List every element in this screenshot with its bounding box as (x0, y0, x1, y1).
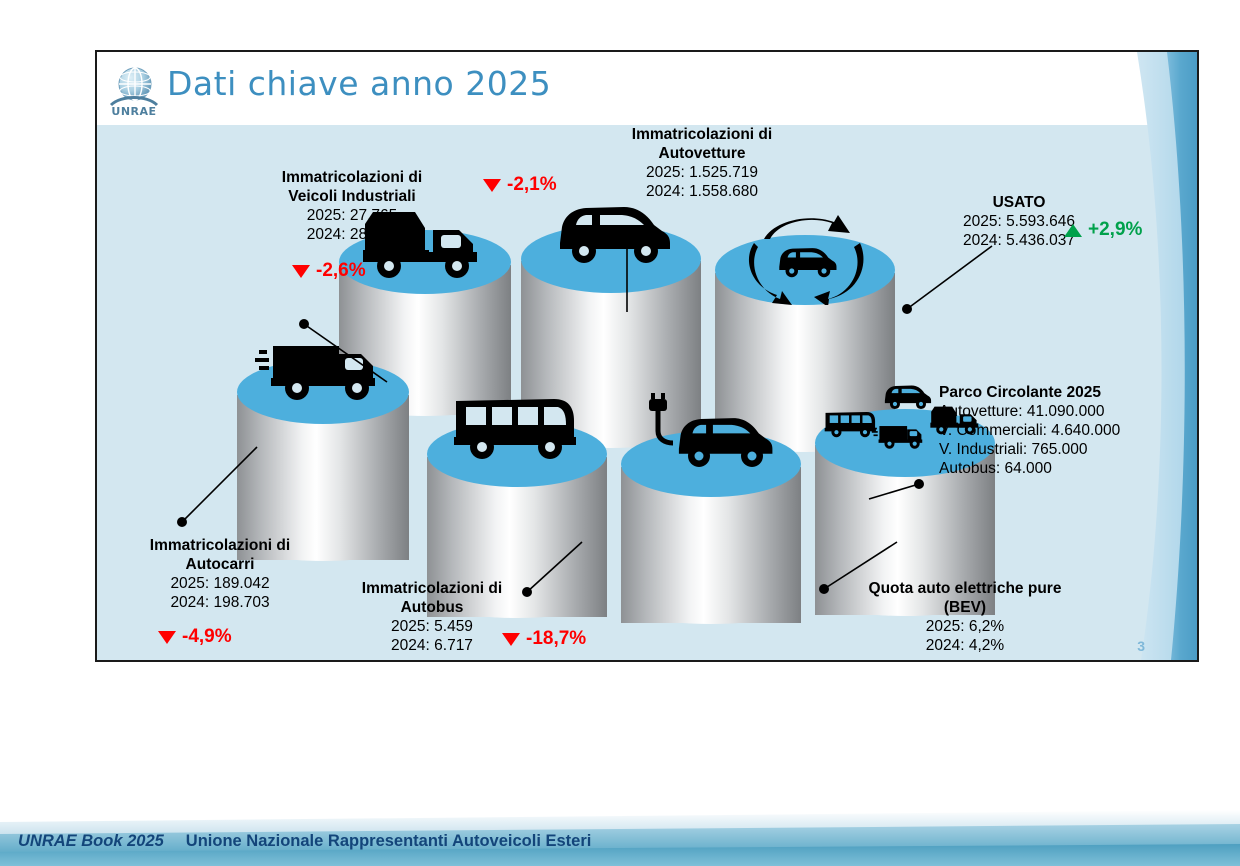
cylinder-top (237, 360, 409, 424)
parco-line-2: V. Commerciali: 4.640.000 (939, 422, 1179, 441)
footer-text: UNRAE Book 2025Unione Nazionale Rapprese… (18, 832, 591, 851)
block-value-2024: 2024: 198.703 (115, 594, 325, 613)
block-title-line2: Veicoli Industriali (247, 188, 457, 207)
unrae-logo-icon: UNRAE (107, 64, 161, 116)
delta-usato: +2,9% (1063, 219, 1142, 241)
block-value-2025: 2025: 1.525.719 (572, 164, 832, 183)
block-title-line1: USATO (909, 194, 1129, 213)
block-value-2024: 2024: 1.558.680 (572, 183, 832, 202)
block-autovetture: Immatricolazioni di Autovetture 2025: 1.… (572, 126, 832, 202)
block-title-line1: Immatricolazioni di (247, 169, 457, 188)
delta-value: -2,1% (507, 174, 557, 195)
page-title: Dati chiave anno 2025 (167, 64, 551, 103)
block-title-line1: Immatricolazioni di (115, 537, 325, 556)
block-parco-circolante: Parco Circolante 2025 Autovetture: 41.09… (939, 384, 1179, 479)
delta-value: -2,6% (316, 260, 366, 281)
block-value-2025: 2025: 189.042 (115, 575, 325, 594)
block-title-line2: Autovetture (572, 145, 832, 164)
block-veicoli-industriali: Immatricolazioni di Veicoli Industriali … (247, 169, 457, 245)
parco-line-1: Autovetture: 41.090.000 (939, 403, 1179, 422)
delta-autovetture: -2,1% (482, 174, 557, 196)
delta-value: -4,9% (182, 626, 232, 647)
delta-veicoli-industriali: -2,6% (291, 260, 366, 282)
parco-line-3: V. Industriali: 765.000 (939, 441, 1179, 460)
cylinder-autocarri (237, 360, 409, 560)
cylinder-top (621, 431, 801, 497)
block-title-line1: Immatricolazioni di (327, 580, 537, 599)
block-title-line1: Immatricolazioni di (572, 126, 832, 145)
delta-autobus: -18,7% (501, 628, 586, 650)
parco-title: Parco Circolante 2025 (939, 384, 1179, 403)
footer-subtitle: Unione Nazionale Rappresentanti Autoveic… (186, 832, 592, 850)
parco-line-4: Autobus: 64.000 (939, 460, 1179, 479)
triangle-down-icon (482, 177, 502, 193)
footer-brand: UNRAE Book 2025 (18, 832, 164, 850)
page-number: 3 (1137, 638, 1145, 654)
cylinder-bev (621, 431, 801, 623)
block-title-line2: (BEV) (825, 599, 1105, 618)
cylinder-top (427, 421, 607, 487)
cylinder-autovetture (521, 225, 701, 447)
block-autocarri: Immatricolazioni di Autocarri 2025: 189.… (115, 537, 325, 613)
block-title-line1: Quota auto elettriche pure (825, 580, 1105, 599)
delta-value: -18,7% (526, 628, 586, 649)
block-value-2024: 2024: 28.496 (247, 226, 457, 245)
svg-text:UNRAE: UNRAE (111, 105, 156, 116)
delta-autocarri: -4,9% (157, 626, 232, 648)
block-title-line2: Autocarri (115, 556, 325, 575)
triangle-up-icon (1063, 222, 1083, 238)
delta-value: +2,9% (1088, 219, 1142, 240)
block-value-2025: 2025: 6,2% (825, 618, 1105, 637)
cylinder-top (521, 225, 701, 293)
block-title-line2: Autobus (327, 599, 537, 618)
block-value-2024: 2024: 4,2% (825, 637, 1105, 656)
slide: UNRAE Dati chiave anno 2025 (95, 50, 1199, 662)
block-bev: Quota auto elettriche pure (BEV) 2025: 6… (825, 580, 1105, 656)
triangle-down-icon (157, 629, 177, 645)
cylinder-top (715, 235, 895, 305)
triangle-down-icon (291, 263, 311, 279)
triangle-down-icon (501, 631, 521, 647)
block-value-2025: 2025: 27.765 (247, 207, 457, 226)
